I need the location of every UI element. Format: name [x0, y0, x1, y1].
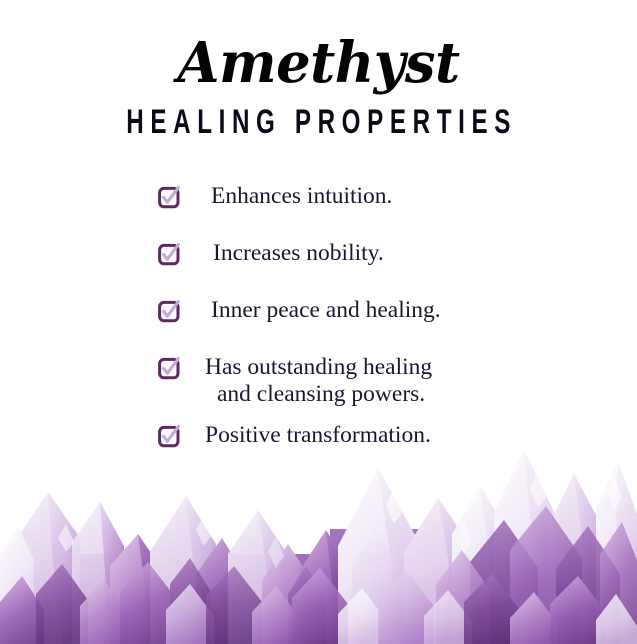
list-item: Inner peace and healing.: [158, 297, 578, 329]
crystal-cluster-illustration: [0, 434, 637, 644]
page-title: Amethyst: [10, 34, 628, 92]
checked-checkbox-icon: [158, 185, 182, 209]
page-subtitle: HEALING PROPERTIES: [70, 104, 567, 139]
list-item-label: Inner peace and healing.: [203, 297, 578, 324]
amethyst-crystal-cluster: [0, 434, 637, 644]
list-item-label: Has outstanding healing: [203, 354, 578, 381]
list-item-label: Increases nobility.: [203, 240, 578, 267]
list-item: Increases nobility.: [158, 240, 578, 272]
benefits-list: Enhances intuition. Increases nobility. …: [158, 183, 578, 454]
list-item: Enhances intuition.: [158, 183, 578, 215]
header: Amethyst HEALING PROPERTIES: [0, 0, 637, 135]
list-item: Has outstanding healing and cleansing po…: [158, 354, 578, 408]
list-item-label: Enhances intuition.: [203, 183, 578, 210]
poster-canvas: Amethyst HEALING PROPERTIES Enhances int…: [0, 0, 637, 644]
list-item-label-line2: and cleansing powers.: [203, 381, 578, 408]
checked-checkbox-icon: [158, 356, 182, 380]
checked-checkbox-icon: [158, 242, 182, 266]
checked-checkbox-icon: [158, 299, 182, 323]
